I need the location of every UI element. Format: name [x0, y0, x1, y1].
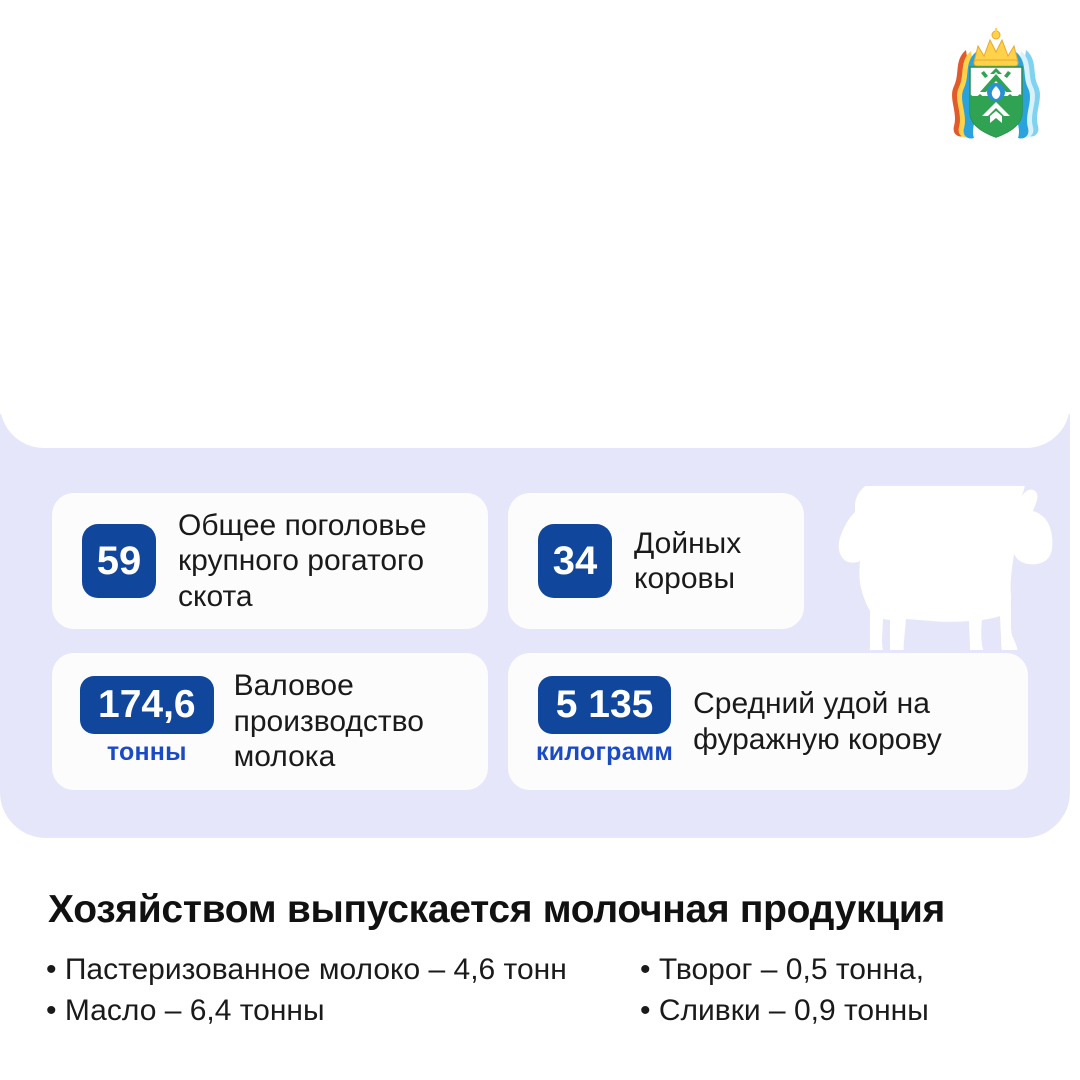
stat-badge-wrap: 5 135 килограмм	[536, 676, 673, 767]
stat-unit-label: тонны	[107, 738, 187, 767]
list-item: • Творог – 0,5 тонна,	[640, 950, 1060, 991]
stat-unit-label: килограмм	[536, 738, 673, 767]
products-heading: Хозяйством выпускается молочная продукци…	[48, 888, 945, 932]
stat-label: Общее поголовье крупного рогатого скота	[178, 508, 488, 614]
products-list-right: • Творог – 0,5 тонна, • Сливки – 0,9 тон…	[640, 950, 1060, 1032]
stat-badge-wrap: 34	[538, 524, 612, 598]
stat-value-badge: 34	[538, 524, 612, 598]
header-panel	[0, 0, 1070, 448]
products-list-left: • Пастеризованное молоко – 4,6 тонн • Ма…	[46, 950, 626, 1032]
stat-card-milking-cows: 34 Дойных коровы	[508, 493, 804, 629]
stat-value-badge: 174,6	[80, 676, 214, 734]
stat-badge-wrap: 174,6 тонны	[80, 676, 214, 767]
stat-value-badge: 5 135	[538, 676, 672, 734]
stat-card-average-milk-yield: 5 135 килограмм Средний удой на фуражную…	[508, 653, 1028, 790]
list-item: • Сливки – 0,9 тонны	[640, 991, 1060, 1032]
coat-of-arms-icon	[940, 26, 1052, 144]
cow-silhouette-icon	[808, 486, 1058, 650]
stat-badge-wrap: 59	[82, 524, 156, 598]
list-item: • Масло – 6,4 тонны	[46, 991, 626, 1032]
stat-label: Дойных коровы	[634, 526, 804, 597]
stat-label: Валовое производство молока	[234, 668, 488, 774]
stat-card-gross-milk-production: 174,6 тонны Валовое производство молока	[52, 653, 488, 790]
stat-value-badge: 59	[82, 524, 156, 598]
stat-card-total-cattle: 59 Общее поголовье крупного рогатого ско…	[52, 493, 488, 629]
stat-label: Средний удой на фуражную корову	[693, 686, 1028, 757]
list-item: • Пастеризованное молоко – 4,6 тонн	[46, 950, 626, 991]
